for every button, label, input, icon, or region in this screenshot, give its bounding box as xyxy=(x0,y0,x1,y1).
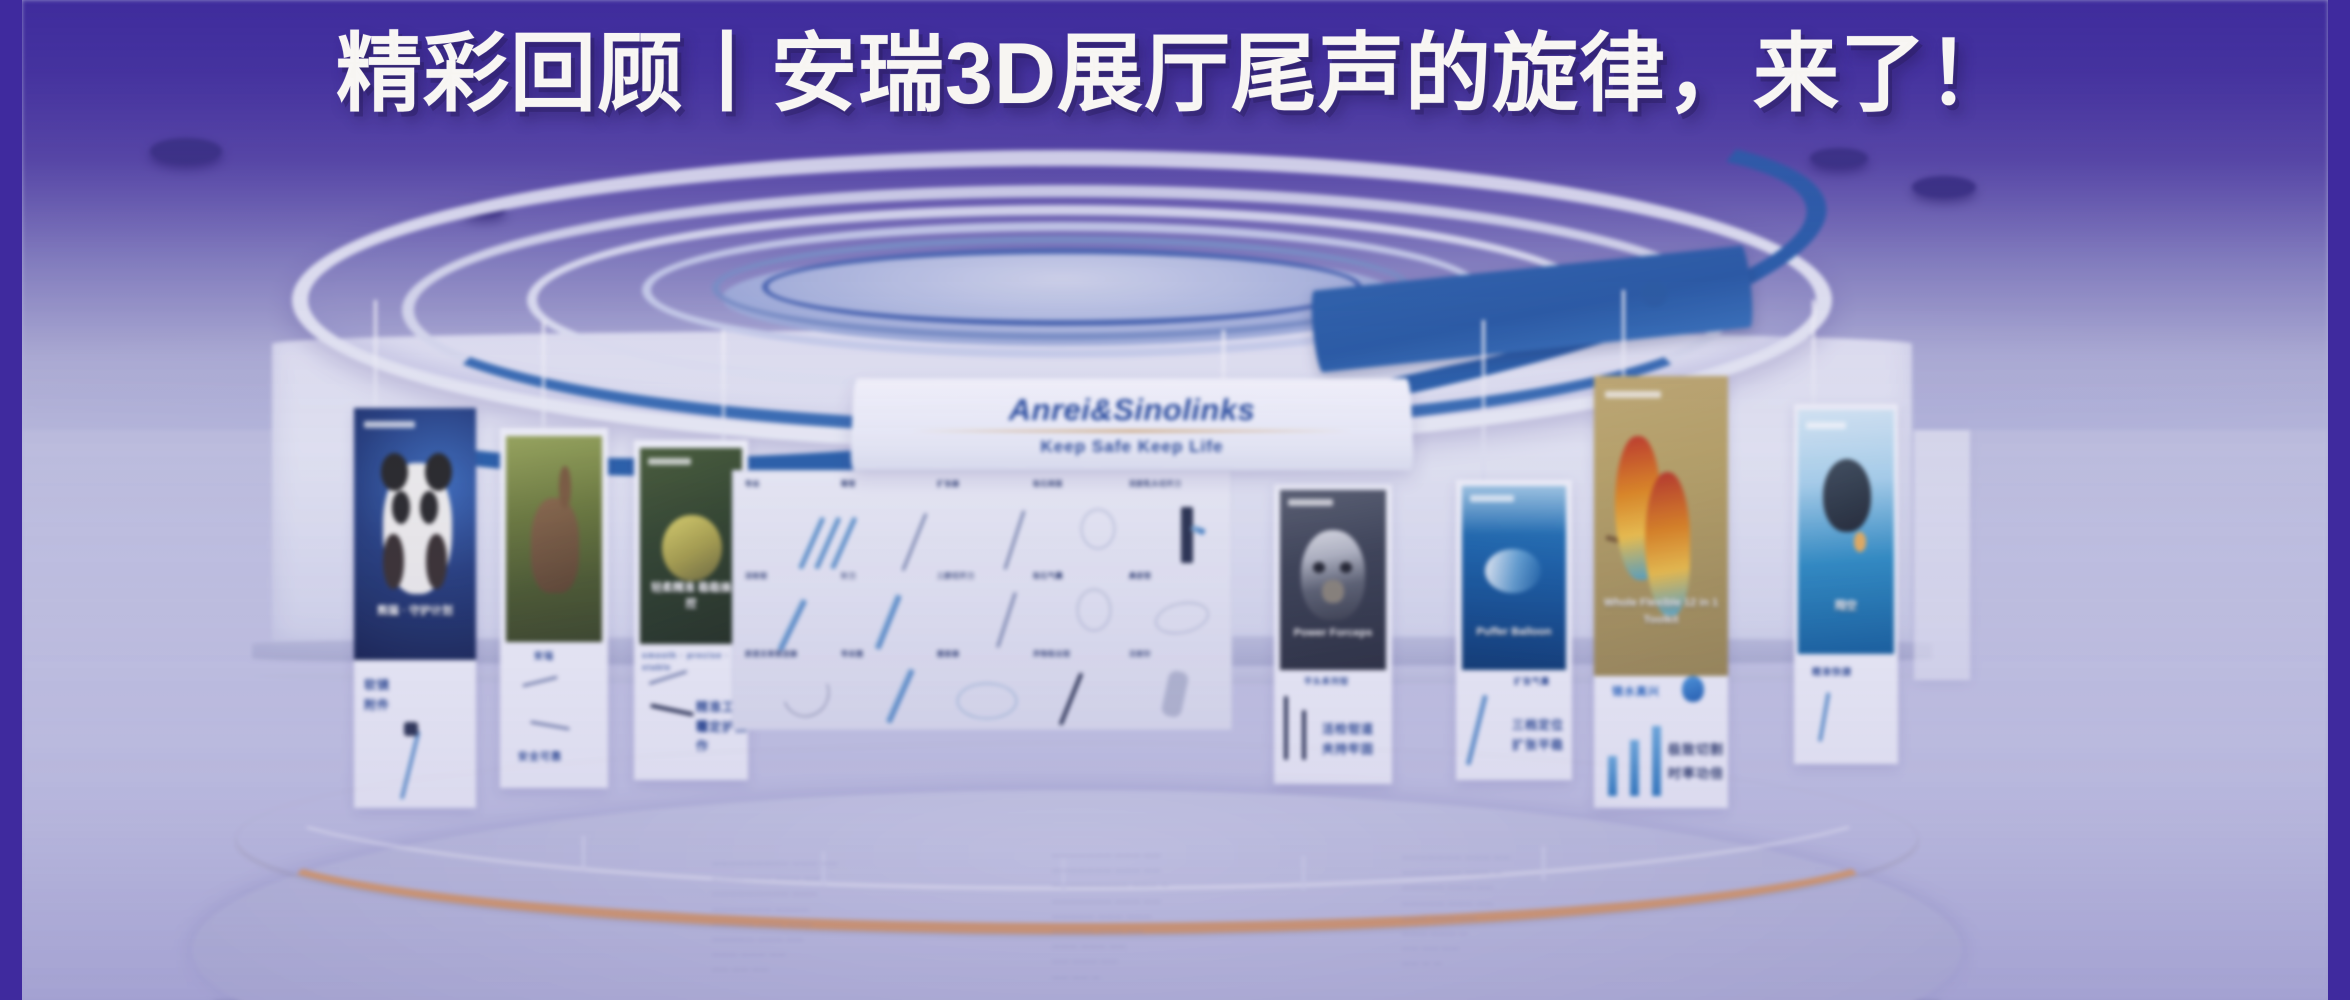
poster-caption: Power Forceps xyxy=(1286,625,1379,642)
poster-caption: Whole Flexible 12 in 1 Toolkit xyxy=(1602,595,1720,628)
poster-logo xyxy=(1470,495,1514,502)
panel-subtitle: 平头系列钳 xyxy=(1304,676,1349,688)
product-instrument xyxy=(996,592,1017,648)
balloon-figure xyxy=(1485,549,1541,593)
poster-bee-eater: Whole Flexible 12 in 1 Toolkit xyxy=(1594,376,1728,676)
eagle-figure xyxy=(1823,459,1871,532)
rail-post xyxy=(1302,856,1305,890)
hanging-rod xyxy=(1482,320,1485,500)
info-badge-icon xyxy=(1682,676,1704,702)
stat-logo-text: 锦水高兴 xyxy=(1612,684,1660,701)
product-label: 导丝圈 xyxy=(841,649,864,659)
rail-post xyxy=(1542,846,1545,880)
badger-eye-left xyxy=(1313,562,1325,573)
banner-image: 熊猫 · 守护计划 软镜 附件 安瑞 安全可靠 xyxy=(0,0,2350,1000)
product-label: 圈套器 xyxy=(937,649,960,659)
product-instrument xyxy=(901,513,927,572)
product-instrument xyxy=(1818,692,1831,742)
poster-badger: Power Forceps xyxy=(1280,490,1386,670)
panda-arm-left xyxy=(383,534,404,589)
product-label: 活检钳 xyxy=(745,571,768,581)
panda-eye-left xyxy=(392,491,410,524)
poster-eagle: 翔空 xyxy=(1798,410,1894,654)
panda-arm-right xyxy=(426,534,447,589)
panel-text-line2: 附件 xyxy=(364,696,390,715)
product-label: 取石网篮 xyxy=(1033,479,1063,489)
deer-figure xyxy=(531,498,579,593)
brand-tagline: Keep Safe Keep Life xyxy=(851,437,1414,457)
product-snare-loop xyxy=(1081,509,1115,549)
product-label: 异物取出钳 xyxy=(1033,649,1071,659)
product-label: 胆道支架推送器 xyxy=(745,649,798,659)
poster-caption: 轻柔精准 稳稳操控 xyxy=(646,580,736,613)
floor-text-column: ————————— ——— —— ——————— ——— —— ————————… xyxy=(712,856,838,978)
product-instrument xyxy=(874,594,901,650)
product-label: 双腔乳头切开刀 xyxy=(1129,479,1182,489)
ceiling-spotlight xyxy=(1810,148,1868,168)
poster-caption: 熊猫 · 守护计划 xyxy=(361,603,468,620)
poster-panda: 熊猫 · 守护计划 xyxy=(354,408,476,660)
product-label: 鞘管 xyxy=(841,479,856,489)
floor-text-column: ——————— ——— —— ——————— ——— —— ————————— … xyxy=(1052,848,1169,985)
brand-name: Anrei&Sinolinks xyxy=(852,392,1412,428)
poster-logo xyxy=(1806,422,1846,429)
rail-post xyxy=(582,836,585,870)
product-instrument xyxy=(1003,510,1025,570)
product-snare-loop xyxy=(1077,589,1111,631)
product-label: 注射针 xyxy=(1129,649,1152,659)
frame-border-right xyxy=(2328,0,2350,1000)
photo-blur-layer: 熊猫 · 守护计划 软镜 附件 安瑞 安全可靠 xyxy=(22,0,2328,1000)
product-label: 针刀 xyxy=(841,571,856,581)
ceiling-ring-inner xyxy=(762,248,1362,326)
exhibit-panel-far-right[interactable] xyxy=(1914,430,1970,680)
badger-snout xyxy=(1322,580,1343,603)
product-instrument xyxy=(522,676,558,688)
badger-head xyxy=(1301,530,1365,620)
product-instrument xyxy=(1181,507,1193,563)
panel-text: 精准快捷 xyxy=(1812,666,1852,680)
poster-logo xyxy=(364,421,415,428)
sun-accent xyxy=(1854,532,1866,552)
poster-logo xyxy=(1288,499,1333,506)
ceiling-spotlight xyxy=(150,138,222,164)
ceiling-spotlight xyxy=(1912,176,1976,198)
panel-brand-mark: 安瑞 xyxy=(534,650,554,664)
brand-banner: Anrei&Sinolinks Keep Safe Keep Life xyxy=(850,379,1414,471)
brand-rule xyxy=(912,430,1353,432)
exhibition-hall-photo: 熊猫 · 守护计划 软镜 附件 安瑞 安全可靠 xyxy=(22,0,2328,1000)
poster-frog: 轻柔精准 稳稳操控 xyxy=(640,448,742,644)
product-label: 导丝 xyxy=(745,479,760,489)
product-snare-loop xyxy=(1152,598,1211,639)
panda-eye-right xyxy=(420,491,438,524)
panel-subtitle: 扩张气囊 xyxy=(1514,676,1550,688)
water-foam xyxy=(1462,486,1566,534)
poster-caption: 翔空 xyxy=(1804,598,1889,615)
badger-eye-right xyxy=(1340,562,1352,573)
poster-logo xyxy=(648,458,691,465)
poster-logo xyxy=(1605,391,1661,398)
product-label: 三腔切开刀 xyxy=(937,571,975,581)
product-label: 扩张器 xyxy=(937,479,960,489)
panda-ear-right xyxy=(425,453,452,491)
page-title: 精彩回顾丨安瑞3D展厅尾声的旋律，来了！ xyxy=(0,28,2350,121)
poster-deer xyxy=(506,436,602,642)
frame-border-left xyxy=(0,0,22,1000)
product-instrument xyxy=(777,599,807,652)
poster-caption: Puffer Balloon xyxy=(1468,624,1560,641)
product-label: 鼻胆管 xyxy=(1129,571,1152,581)
floor-text-column: ——————— ——— —— ——————— ——— — ————— ——— —… xyxy=(1402,850,1511,972)
product-label: 取石气囊 xyxy=(1033,571,1063,581)
frog-figure xyxy=(662,515,721,582)
panel-nub xyxy=(1640,280,1669,309)
exhibit-panel-eagle[interactable]: 翔空 精准快捷 xyxy=(1794,404,1898,764)
panda-ear-left xyxy=(381,453,408,491)
panel-text-line1: 软镜 xyxy=(364,676,390,695)
poster-puffer: Puffer Balloon xyxy=(1462,486,1566,670)
